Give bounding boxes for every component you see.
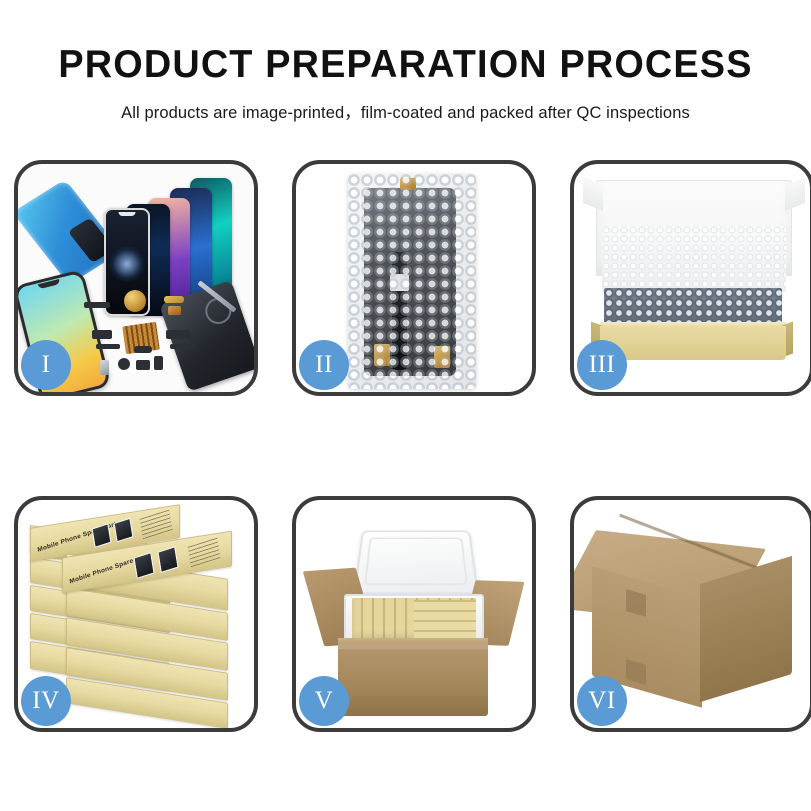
box-spec-lines-front: [187, 537, 220, 568]
step-badge-4: IV: [21, 676, 71, 726]
process-step-panel-5[interactable]: V: [292, 496, 536, 732]
step-badge-2: II: [299, 340, 349, 390]
part-connector-a: [92, 330, 112, 339]
bubble-wrap-bag: [348, 174, 476, 389]
part-cable-a: [96, 344, 120, 349]
part-button: [154, 356, 163, 370]
part-vibrator: [134, 346, 152, 353]
gold-connector-left: [374, 344, 390, 366]
flex-cable-icon: [392, 252, 407, 370]
box-window-front-2: [157, 546, 178, 573]
foam-sheet: [602, 226, 786, 292]
speaker-component-icon: [124, 290, 146, 312]
step-badge-5: V: [299, 676, 349, 726]
screen-crack-icon: [109, 246, 145, 282]
foam-lid: [353, 530, 479, 594]
page-title: PRODUCT PREPARATION PROCESS: [12, 45, 799, 86]
inner-boxes-row-b: [414, 600, 476, 640]
part-connector-b: [166, 330, 190, 339]
step-badge-3: III: [577, 340, 627, 390]
part-sim-tray: [100, 360, 109, 375]
part-module: [136, 360, 150, 370]
box-window-back-1: [92, 523, 112, 548]
gold-connector-right: [434, 346, 450, 368]
part-camera: [118, 358, 130, 370]
box-window-back-2: [114, 518, 134, 543]
process-step-panel-2[interactable]: II: [292, 160, 536, 396]
page-subtitle: All products are image-printed，film-coat…: [0, 99, 811, 123]
box-window-front-1: [133, 552, 154, 579]
process-step-panel-4[interactable]: Mobile Phone Spare Parts Mobile Phone Sp…: [14, 496, 258, 732]
part-gold-flex: [164, 296, 184, 303]
process-step-panel-3[interactable]: III: [570, 160, 811, 396]
step-badge-1: I: [21, 340, 71, 390]
page-header: PRODUCT PREPARATION PROCESS All products…: [0, 0, 811, 123]
box-front-panel: [600, 326, 786, 360]
gold-tape-top: [400, 178, 416, 190]
process-step-panel-1[interactable]: I: [14, 160, 258, 396]
box-spec-lines-back: [139, 509, 172, 540]
part-earpiece: [84, 302, 110, 308]
part-cable-b: [170, 344, 196, 349]
part-copper-clip: [168, 306, 181, 315]
carton-front-panel: [338, 644, 488, 716]
step-badge-6: VI: [577, 676, 627, 726]
process-step-panel-6[interactable]: VI: [570, 496, 811, 732]
process-step-grid: I II III: [14, 160, 800, 732]
